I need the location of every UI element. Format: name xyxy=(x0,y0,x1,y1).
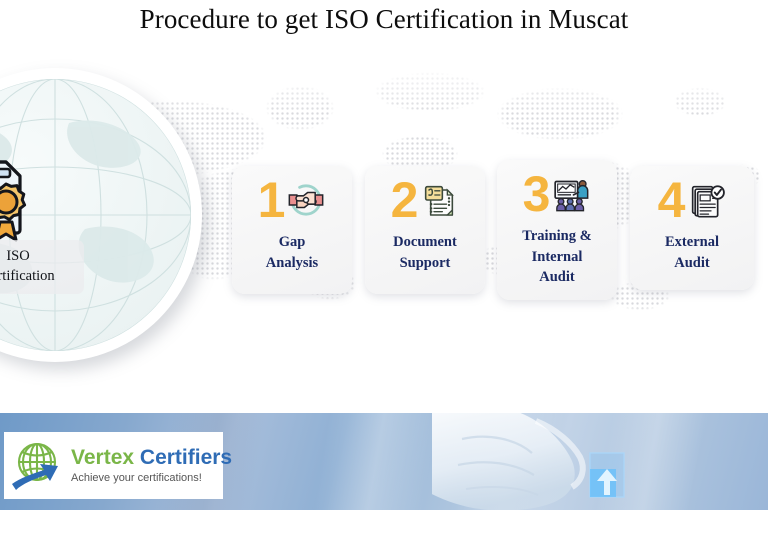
step-1-number: 1 xyxy=(258,175,285,225)
step-3-number: 3 xyxy=(523,169,550,219)
step-3-label-line-1: Training & xyxy=(501,226,613,247)
brand-name: Vertex Certifiers xyxy=(71,447,232,469)
globe-arrow-logo-icon xyxy=(10,440,68,492)
brand-text: Vertex Certifiers Achieve your certifica… xyxy=(71,447,232,483)
bottom-white-strip xyxy=(0,510,768,543)
step-card-4[interactable]: 4 xyxy=(630,166,754,290)
iso-badge-line-2: Certification xyxy=(0,267,78,287)
step-3-label-line-2: Internal xyxy=(501,247,613,268)
audit-documents-check-icon xyxy=(686,180,726,220)
step-2-label-line-2: Support xyxy=(369,253,481,274)
step-4-label-line-1: External xyxy=(634,232,750,253)
step-1-header: 1 xyxy=(232,172,352,228)
step-2-header: 2 xyxy=(365,172,485,228)
page-title: Procedure to get ISO Certification in Mu… xyxy=(0,4,768,35)
iso-badge-line-1: ISO xyxy=(0,247,78,267)
step-4-label: External Audit xyxy=(634,232,750,273)
step-4-number: 4 xyxy=(658,175,685,225)
step-2-label: Document Support xyxy=(369,232,481,273)
step-1-label-line-1: Gap xyxy=(236,232,348,253)
training-presentation-icon xyxy=(551,174,591,214)
hero-globe: ISO Certification xyxy=(0,68,202,362)
brand-logo[interactable]: Vertex Certifiers Achieve your certifica… xyxy=(4,432,223,499)
step-2-label-line-1: Document xyxy=(369,232,481,253)
step-3-label-line-3: Audit xyxy=(501,267,613,288)
step-4-header: 4 xyxy=(630,172,754,228)
step-3-header: 3 xyxy=(497,166,617,222)
iso-certification-badge: ISO Certification xyxy=(0,240,84,294)
brand-name-second: Certifiers xyxy=(140,446,232,469)
poster-canvas: Procedure to get ISO Certification in Mu… xyxy=(0,0,768,543)
step-card-2[interactable]: 2 xyxy=(365,166,485,294)
handshake-icon xyxy=(286,180,326,220)
document-note-icon xyxy=(419,180,459,220)
step-card-3[interactable]: 3 xyxy=(497,160,617,300)
step-card-1[interactable]: 1 Gap Analysis xyxy=(232,166,352,294)
brand-tagline: Achieve your certifications! xyxy=(71,472,232,484)
step-1-label: Gap Analysis xyxy=(236,232,348,273)
step-3-label: Training & Internal Audit xyxy=(501,226,613,288)
step-2-number: 2 xyxy=(391,175,418,225)
brand-name-first: Vertex xyxy=(71,446,134,469)
step-1-label-line-2: Analysis xyxy=(236,253,348,274)
hand-touch-arrow-icon xyxy=(432,413,662,510)
touch-target-arrow-icon xyxy=(588,451,626,499)
steps-container: 1 Gap Analysis 2 xyxy=(232,160,762,310)
step-4-label-line-2: Audit xyxy=(634,253,750,274)
certificate-seal-icon xyxy=(0,144,42,248)
